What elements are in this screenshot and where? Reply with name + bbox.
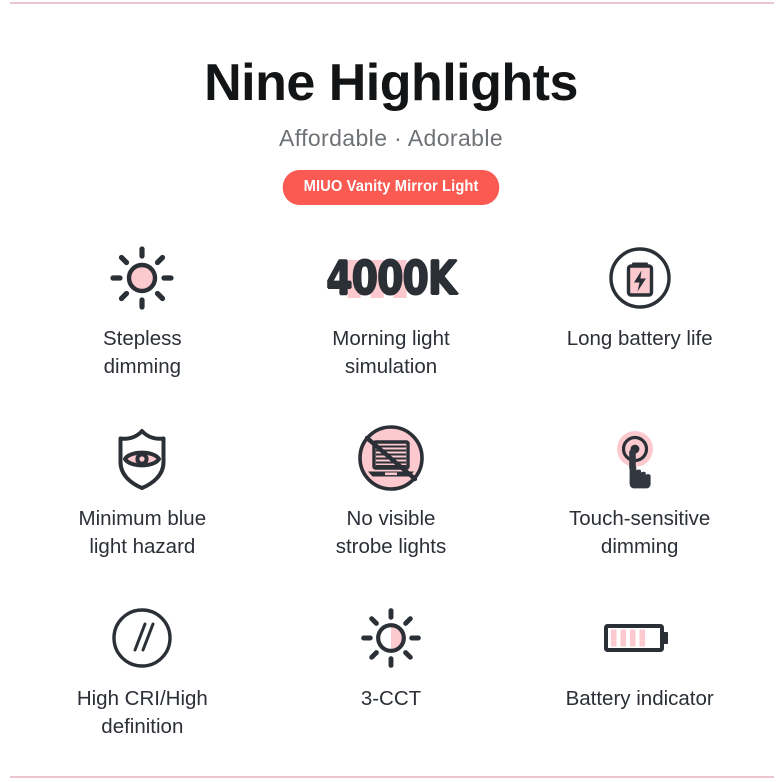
kelvin-value: 4000K <box>326 251 456 305</box>
shield-eye-icon <box>106 419 178 497</box>
bottom-divider <box>10 776 774 778</box>
page-title: Nine Highlights <box>0 56 782 111</box>
feature-label: High CRI/High definition <box>77 685 208 742</box>
kelvin-4000k-icon: 4000K <box>312 239 471 317</box>
battery-charge-circle-icon <box>605 239 675 317</box>
feature-cell: Battery indicator <box>515 599 764 713</box>
badge-row: MIUO Vanity Mirror Light <box>0 170 782 205</box>
no-strobe-screen-icon <box>355 419 427 497</box>
feature-cell: 4000K Morning light simulation <box>267 239 516 382</box>
feature-cell: Minimum blue light hazard <box>18 419 267 562</box>
cri-slashes-circle-icon <box>107 599 177 677</box>
feature-cell: Stepless dimming <box>18 239 267 382</box>
features-grid: Stepless dimming 4000K Morning light sim… <box>0 239 782 779</box>
feature-label: Long battery life <box>567 325 713 353</box>
feature-cell: High CRI/High definition <box>18 599 267 742</box>
feature-label: No visible strobe lights <box>336 505 447 562</box>
feature-cell: 3-CCT <box>267 599 516 713</box>
sun-brightness-icon <box>107 239 177 317</box>
page-header: Nine Highlights Affordable · Adorable MI… <box>0 0 782 205</box>
highlights-page: Nine Highlights Affordable · Adorable MI… <box>0 0 782 782</box>
top-divider <box>10 2 774 4</box>
feature-cell: Long battery life <box>515 239 764 353</box>
feature-cell: No visible strobe lights <box>267 419 516 562</box>
feature-label: Morning light simulation <box>332 325 449 382</box>
touch-ripple-hand-icon <box>604 419 676 497</box>
feature-label: Stepless dimming <box>103 325 182 382</box>
page-subtitle: Affordable · Adorable <box>0 125 782 152</box>
product-badge: MIUO Vanity Mirror Light <box>283 170 500 205</box>
feature-label: 3-CCT <box>361 685 421 713</box>
feature-label: Minimum blue light hazard <box>79 505 207 562</box>
sun-half-icon <box>358 599 424 677</box>
feature-label: Battery indicator <box>566 685 714 713</box>
feature-label: Touch-sensitive dimming <box>569 505 710 562</box>
feature-cell: Touch-sensitive dimming <box>515 419 764 562</box>
battery-level-icon <box>600 599 680 677</box>
